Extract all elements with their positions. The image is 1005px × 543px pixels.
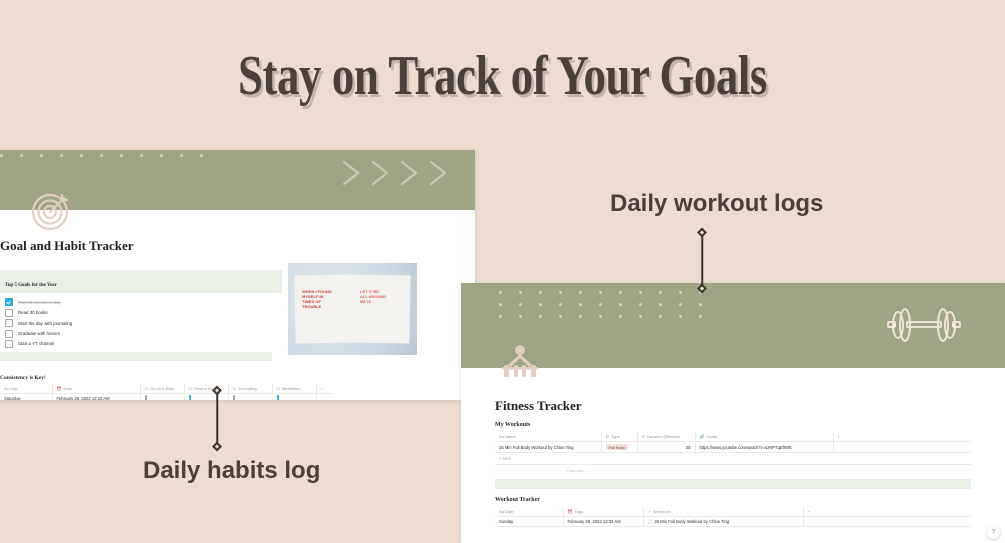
dot-pattern-decoration xyxy=(499,291,749,327)
goal-label: Run 30 minutes a day xyxy=(18,300,61,305)
workout-callout-label: Daily workout logs xyxy=(610,190,823,218)
consistency-col-0: Aa Day xyxy=(4,386,17,391)
cell-workout-duration[interactable]: 25 xyxy=(637,442,695,453)
goal-habit-tracker-panel[interactable]: Goal and Habit Tracker Top 5 Goals for t… xyxy=(0,150,475,400)
add-column-button[interactable]: + xyxy=(803,507,971,517)
cell-day[interactable]: Saturday xyxy=(0,393,52,400)
fitness-doc-title: Fitness Tracker xyxy=(495,398,971,414)
goals-section-footer-bar xyxy=(0,352,272,361)
goal-checkbox[interactable] xyxy=(5,319,13,327)
calculate-button[interactable]: Calculate ⌄ xyxy=(495,465,971,473)
cell-date[interactable]: February 28, 2022 12:23 AM xyxy=(52,393,140,400)
tracker-col-0: Aa Date xyxy=(499,509,513,514)
consistency-table[interactable]: Aa Day ⏰Date ☑Go on a Walk ☑Read a Book … xyxy=(0,384,332,400)
journal-page-left xyxy=(294,274,353,343)
workout-tracker-table[interactable]: Aa Date ⏰Tags ↗Workout/s + Sunday Februa… xyxy=(495,507,971,527)
goal-item[interactable]: Graduate with honors xyxy=(5,330,267,338)
cell-journaling[interactable] xyxy=(228,393,272,400)
table-row[interactable]: Sunday February 28, 2022 12:33 AM 📄25 Mi… xyxy=(495,517,971,527)
journal-text-right: LET IT BE ALL AROUND ME IS xyxy=(360,289,386,304)
consistency-col-5: Meditation xyxy=(282,386,300,391)
goal-item[interactable]: Run 30 minutes a day xyxy=(5,298,267,306)
cell-tracker-date[interactable]: Sunday xyxy=(495,517,563,527)
workouts-col-1: Type xyxy=(611,434,620,439)
section-divider-bar xyxy=(495,479,971,489)
consistency-col-6: + xyxy=(321,386,323,391)
workouts-col-0: Aa Name xyxy=(499,434,516,439)
tracker-col-2: Workout/s xyxy=(653,509,671,514)
table-header-row: Aa Day ⏰Date ☑Go on a Walk ☑Read a Book … xyxy=(0,384,332,394)
connector-line xyxy=(701,232,703,288)
goal-label: Start the day with journaling xyxy=(18,321,72,326)
my-workouts-heading: My Workouts xyxy=(495,422,971,428)
habits-connector xyxy=(213,390,221,446)
number-icon: ☰ xyxy=(642,434,646,439)
calculate-label: Calculate xyxy=(567,468,584,473)
goal-checkbox[interactable] xyxy=(5,298,13,306)
relation-icon: ↗ xyxy=(648,509,651,514)
goal-label: Start a YT channel xyxy=(18,341,54,346)
add-column-button[interactable]: + xyxy=(316,384,332,394)
goal-checkbox[interactable] xyxy=(5,309,13,317)
table-header-row: Aa Name ☰Type ☰Duration (Minutes) 🔗Guide… xyxy=(495,432,971,442)
consistency-col-2: Go on a Walk xyxy=(150,386,174,391)
column-header-journaling[interactable]: ☑Journaling xyxy=(228,384,272,394)
consistency-col-4: Journaling xyxy=(238,386,256,391)
tracker-col-1: Tags xyxy=(574,509,582,514)
cell-read[interactable] xyxy=(184,393,228,400)
habit-doc-title: Goal and Habit Tracker xyxy=(0,238,445,254)
cell-walk[interactable] xyxy=(140,393,184,400)
cell-workout-name[interactable]: 25 Min Full Body Workout by Chloe Ting xyxy=(495,442,601,453)
cell-empty xyxy=(316,393,332,400)
goal-checkbox[interactable] xyxy=(5,330,13,338)
walk-checkbox[interactable] xyxy=(145,395,147,400)
goal-label: Graduate with honors xyxy=(18,331,60,336)
checkbox-icon: ☑ xyxy=(189,386,193,391)
table-row[interactable]: Saturday February 28, 2022 12:23 AM xyxy=(0,393,332,400)
goal-label: Read 30 books xyxy=(18,310,48,315)
cell-workout-type[interactable]: Full Body xyxy=(601,442,637,453)
clock-icon: ⏰ xyxy=(57,386,62,391)
column-header-meditation[interactable]: ☑Meditation xyxy=(272,384,316,394)
checkbox-icon: ☑ xyxy=(145,386,149,391)
column-header-date[interactable]: ⏰Date xyxy=(52,384,140,394)
tracker-workout-label: 25 Min Full Body Workout by Chloe Ting xyxy=(654,519,729,524)
cell-workout-guide[interactable]: https://www.youtube.com/watch?v=szRPTqEf… xyxy=(695,442,833,453)
goals-checklist[interactable]: Run 30 minutes a day Read 30 books Start… xyxy=(0,293,272,348)
goals-section-heading-bar: Top 5 Goals for the Year xyxy=(0,270,282,293)
connector-diamond-top xyxy=(697,227,707,237)
link-icon: 🔗 xyxy=(700,434,705,439)
target-icon xyxy=(30,188,74,232)
habits-callout-label: Daily habits log xyxy=(143,457,320,485)
type-tag: Full Body xyxy=(606,444,629,450)
connector-diamond-bottom xyxy=(212,441,222,451)
cell-empty xyxy=(803,517,971,527)
workout-tracker-heading: Workout Tracker xyxy=(495,497,971,503)
journal-page-right xyxy=(351,274,410,343)
column-header-duration[interactable]: ☰Duration (Minutes) xyxy=(637,432,695,442)
goal-item[interactable]: Read 30 books xyxy=(5,309,267,317)
dot-pattern-decoration xyxy=(0,154,250,166)
cell-empty xyxy=(833,442,971,453)
read-checkbox[interactable] xyxy=(189,395,191,400)
workout-connector xyxy=(698,232,706,288)
workouts-col-4: + xyxy=(838,434,840,439)
table-header-row: Aa Date ⏰Tags ↗Workout/s + xyxy=(495,507,971,517)
checkbox-icon: ☑ xyxy=(277,386,281,391)
consistency-col-1: Date xyxy=(63,386,71,391)
column-header-date[interactable]: Aa Date xyxy=(495,507,563,517)
page-title: Stay on Track of Your Goals xyxy=(101,44,905,108)
meditation-checkbox[interactable] xyxy=(277,395,279,400)
fitness-tracker-panel[interactable]: Fitness Tracker My Workouts Aa Name ☰Typ… xyxy=(461,283,1005,543)
workouts-col-2: Duration (Minutes) xyxy=(647,434,680,439)
column-header-workouts[interactable]: ↗Workout/s xyxy=(643,507,803,517)
chevrons-icon xyxy=(340,158,453,188)
journal-text-left: WHEN I FOUND MYSELF IN TIMES OF TROUBLE xyxy=(302,289,332,309)
journaling-checkbox[interactable] xyxy=(233,395,235,400)
cell-tracker-workouts[interactable]: 📄25 Min Full Body Workout by Chloe Ting xyxy=(643,517,803,527)
goal-item[interactable]: Start the day with journaling xyxy=(5,319,267,327)
column-header-read[interactable]: ☑Read a Book xyxy=(184,384,228,394)
workouts-col-3: Guide xyxy=(706,434,717,439)
table-row[interactable]: 25 Min Full Body Workout by Chloe Ting F… xyxy=(495,442,971,453)
dumbbell-icon xyxy=(881,301,967,354)
consistency-heading: Consistency is Key! xyxy=(0,375,332,381)
column-header-walk[interactable]: ☑Go on a Walk xyxy=(140,384,184,394)
column-header-type[interactable]: ☰Type xyxy=(601,432,637,442)
column-header-guide[interactable]: 🔗Guide xyxy=(695,432,833,442)
connector-line xyxy=(216,390,218,446)
tracker-col-3: + xyxy=(808,509,810,514)
journal-photo: WHEN I FOUND MYSELF IN TIMES OF TROUBLE … xyxy=(288,263,417,355)
list-icon: ☰ xyxy=(606,434,610,439)
bench-press-person-icon xyxy=(497,343,543,381)
clock-icon: ⏰ xyxy=(568,509,573,514)
goals-section-heading: Top 5 Goals for the Year xyxy=(5,283,57,288)
goal-item[interactable]: Start a YT channel xyxy=(5,340,267,348)
column-header-tags[interactable]: ⏰Tags xyxy=(563,507,643,517)
column-header-name[interactable]: Aa Name xyxy=(495,432,601,442)
column-header-day[interactable]: Aa Day xyxy=(0,384,52,394)
cell-meditation[interactable] xyxy=(272,393,316,400)
new-row-button[interactable]: + New xyxy=(495,453,971,465)
my-workouts-table[interactable]: Aa Name ☰Type ☰Duration (Minutes) 🔗Guide… xyxy=(495,432,971,453)
add-column-button[interactable]: + xyxy=(833,432,971,442)
goal-checkbox[interactable] xyxy=(5,340,13,348)
cell-tracker-tags[interactable]: February 28, 2022 12:33 AM xyxy=(563,517,643,527)
help-button[interactable]: ? xyxy=(987,526,1000,539)
page-icon: 📄 xyxy=(648,519,653,524)
checkbox-icon: ☑ xyxy=(233,386,237,391)
